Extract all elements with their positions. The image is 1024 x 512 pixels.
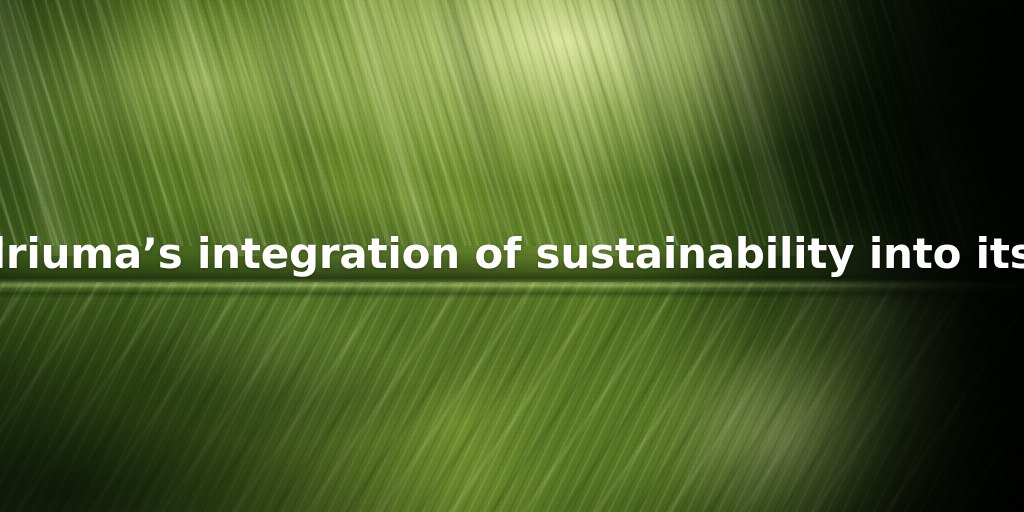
banner-headline: driuma’s integration of sustainability i…	[0, 228, 1024, 280]
headline-clip-region: driuma’s integration of sustainability i…	[0, 228, 1024, 288]
banner-image: driuma’s integration of sustainability i…	[0, 0, 1024, 512]
